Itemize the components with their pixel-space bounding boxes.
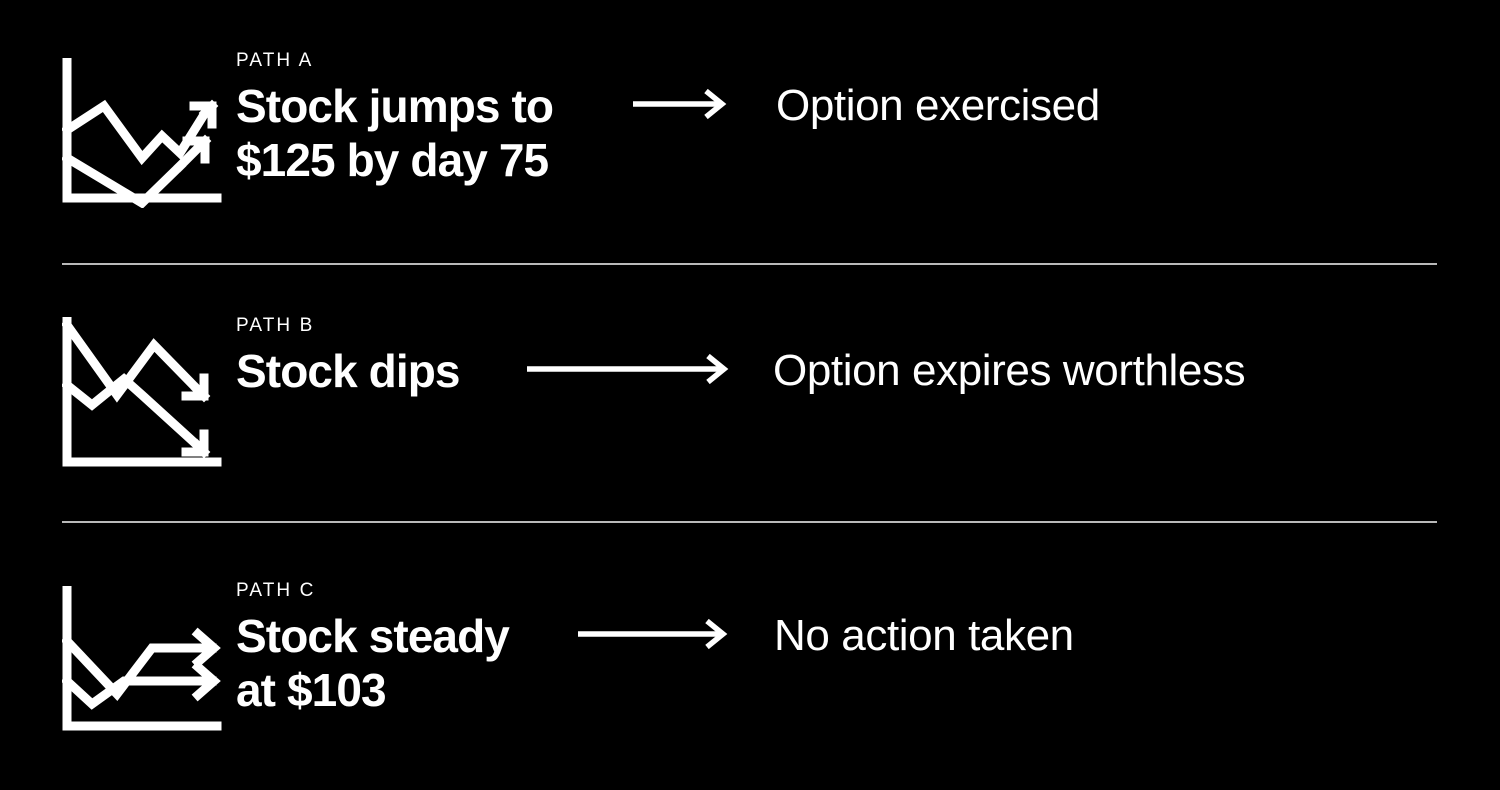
divider-a-b [62,263,1437,265]
path-a-outcome: Stock jumps to $125 by day 75 Option exe… [236,79,1500,187]
path-a-text-cell: PATH A Stock jumps to $125 by day 75 Opt… [236,40,1500,187]
path-row-c: PATH C Stock steady at $103 No action ta… [0,570,1500,760]
right-arrow-icon [526,352,730,386]
path-row-a: PATH A Stock jumps to $125 by day 75 Opt… [0,40,1500,230]
path-b-kicker: PATH B [236,315,1500,337]
chart-trend-down-icon [62,317,222,472]
chart-trend-up-icon [62,58,222,208]
path-a-icon-cell [0,40,236,210]
path-c-text-cell: PATH C Stock steady at $103 No action ta… [236,570,1500,717]
scenario-board: PATH A Stock jumps to $125 by day 75 Opt… [0,0,1500,790]
path-row-b: PATH B Stock dips Option expires worthle… [0,305,1500,495]
right-arrow-icon [577,617,729,651]
path-a-kicker: PATH A [236,50,1500,72]
path-c-condition: Stock steady at $103 [236,609,572,717]
path-a-condition: Stock jumps to $125 by day 75 [236,79,626,187]
right-arrow-icon [632,87,728,121]
path-b-outcome: Stock dips Option expires worthless [236,344,1500,398]
chart-trend-flat-icon [62,586,222,736]
path-c-outcome: Stock steady at $103 No action taken [236,609,1500,717]
path-b-result: Option expires worthless [773,344,1245,398]
path-c-icon-cell [0,570,236,740]
path-a-result: Option exercised [776,79,1100,133]
path-b-condition: Stock dips [236,344,521,398]
path-c-kicker: PATH C [236,580,1500,602]
divider-b-c [62,521,1437,523]
path-c-result: No action taken [774,609,1074,663]
path-b-text-cell: PATH B Stock dips Option expires worthle… [236,305,1500,398]
path-b-icon-cell [0,305,236,475]
